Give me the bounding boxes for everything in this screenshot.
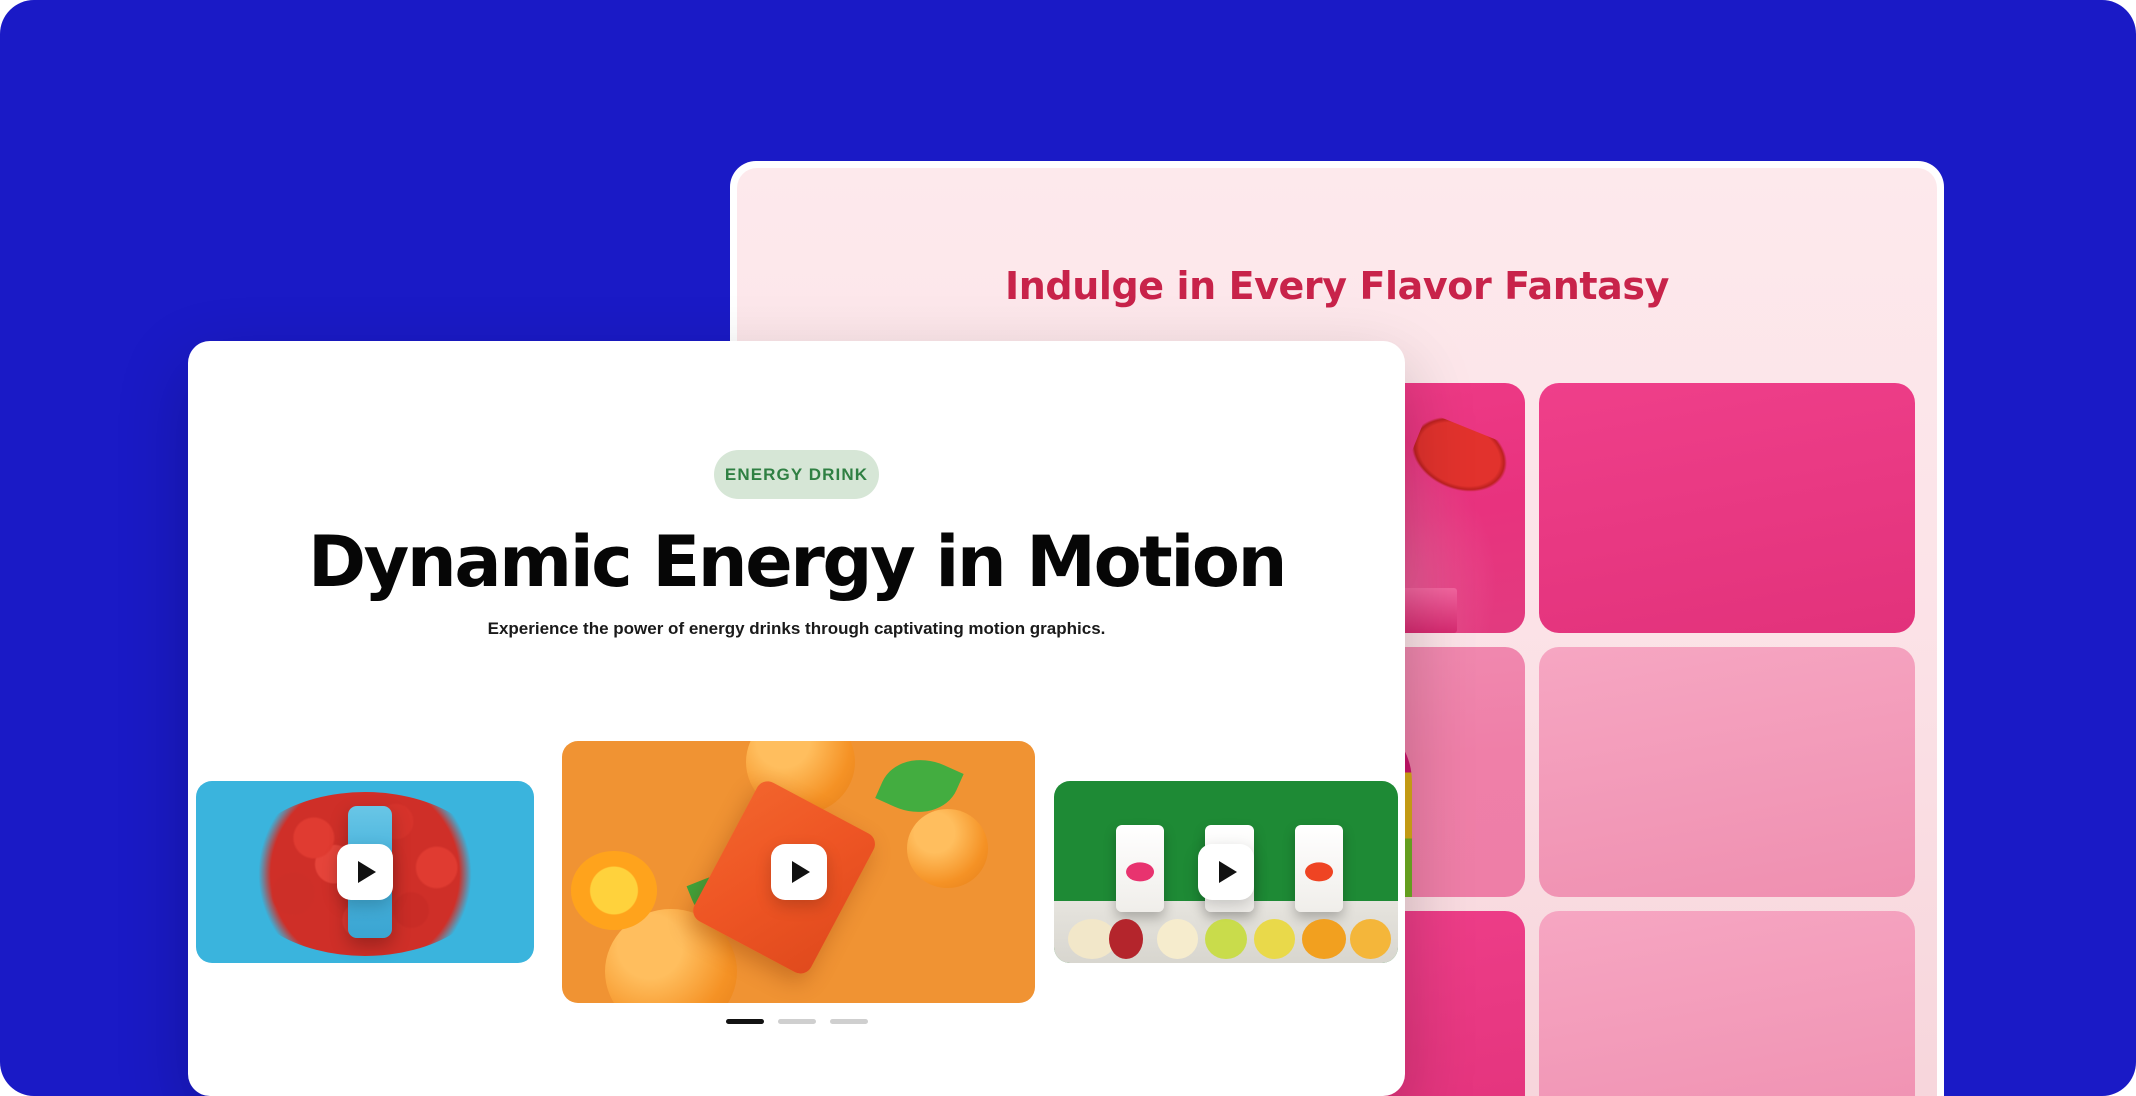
video-carousel[interactable] bbox=[188, 741, 1405, 1001]
play-triangle bbox=[358, 861, 376, 883]
fruit-graphic-4 bbox=[1205, 919, 1246, 959]
hero-subline: Experience the power of energy drinks th… bbox=[188, 619, 1405, 639]
strawberry-graphic bbox=[1404, 412, 1519, 509]
gallery-tile-pink-plain[interactable] bbox=[1539, 383, 1915, 633]
fruit-graphic-5 bbox=[1254, 919, 1295, 959]
hero-headline: Dynamic Energy in Motion bbox=[188, 521, 1405, 603]
carousel-slide-go-good[interactable] bbox=[1054, 781, 1398, 963]
orange-slice-graphic bbox=[571, 851, 656, 930]
gallery-title: Indulge in Every Flavor Fantasy bbox=[737, 264, 1937, 308]
pagination-dot-2[interactable] bbox=[778, 1019, 816, 1024]
can-logo-3 bbox=[1305, 862, 1333, 881]
mockup-stage: Indulge in Every Flavor Fantasy bbox=[0, 0, 2136, 1096]
carousel-pagination[interactable] bbox=[188, 1019, 1405, 1024]
front-hero-card: ENERGY DRINK Dynamic Energy in Motion Ex… bbox=[188, 341, 1405, 1096]
play-triangle bbox=[792, 861, 810, 883]
orange-graphic-3 bbox=[907, 809, 987, 888]
play-triangle bbox=[1219, 861, 1237, 883]
go-good-can-3 bbox=[1295, 825, 1343, 912]
gallery-tile-extra-c[interactable] bbox=[1539, 911, 1915, 1096]
gallery-tile-soft-pink[interactable] bbox=[1539, 647, 1915, 897]
go-good-can-1 bbox=[1116, 825, 1164, 912]
play-icon[interactable] bbox=[337, 844, 393, 900]
carousel-slide-fanta[interactable] bbox=[562, 741, 1035, 1003]
play-icon[interactable] bbox=[1198, 844, 1254, 900]
play-icon[interactable] bbox=[771, 844, 827, 900]
carousel-slide-strawberry[interactable] bbox=[196, 781, 534, 963]
category-badge: ENERGY DRINK bbox=[714, 450, 879, 499]
pagination-dot-3[interactable] bbox=[830, 1019, 868, 1024]
can-logo-1 bbox=[1126, 862, 1154, 881]
pagination-dot-1[interactable] bbox=[726, 1019, 764, 1024]
